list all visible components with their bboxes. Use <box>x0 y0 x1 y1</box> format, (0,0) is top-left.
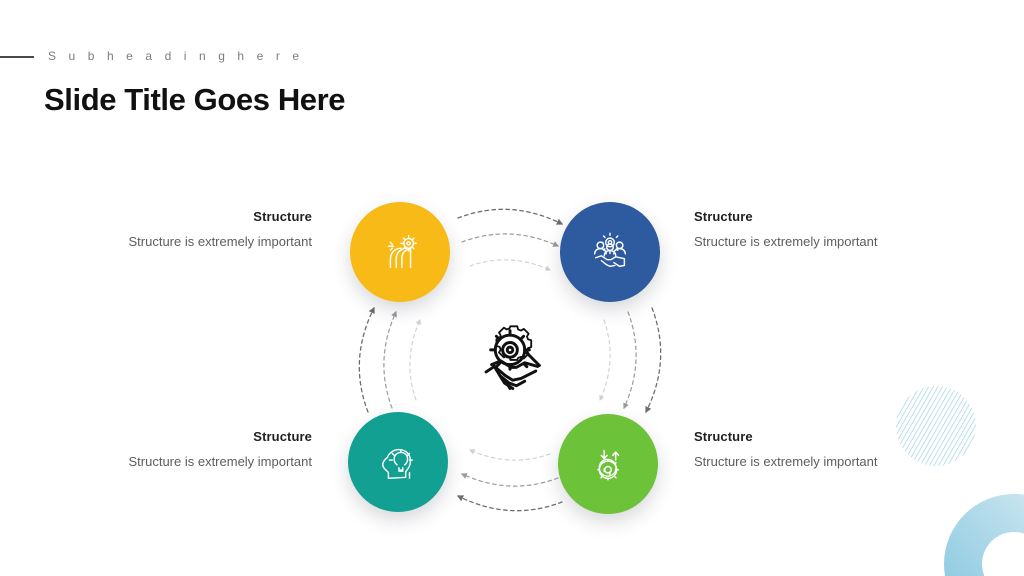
node-text-top-left: Structure Structure is extremely importa… <box>102 209 312 252</box>
ring-shape <box>944 494 1024 576</box>
node-body: Structure is extremely important <box>694 452 904 472</box>
node-body: Structure is extremely important <box>102 232 312 252</box>
node-body: Structure is extremely important <box>102 452 312 472</box>
node-top-left[interactable] <box>350 202 450 302</box>
gear-arrows-icon <box>585 441 631 487</box>
node-bottom-right[interactable] <box>558 414 658 514</box>
node-heading: Structure <box>694 209 904 224</box>
team-handshake-gear-icon <box>587 229 633 275</box>
subheading: S u b h e a d i n g h e r e <box>48 49 304 63</box>
corner-decoration <box>864 386 1024 576</box>
node-heading: Structure <box>102 209 312 224</box>
node-text-bottom-left: Structure Structure is extremely importa… <box>102 429 312 472</box>
heads-gear-icon <box>377 229 423 275</box>
node-body: Structure is extremely important <box>694 232 904 252</box>
decoration-shapes <box>896 386 1024 576</box>
page-title: Slide Title Goes Here <box>44 82 345 118</box>
node-heading: Structure <box>102 429 312 444</box>
node-top-right[interactable] <box>560 202 660 302</box>
node-bottom-left[interactable] <box>348 412 448 512</box>
head-lightbulb-icon <box>375 439 421 485</box>
subheading-rule <box>0 56 34 58</box>
node-text-top-right: Structure Structure is extremely importa… <box>694 209 904 252</box>
hatched-circle <box>896 386 976 466</box>
handshake-gear-icon <box>464 314 556 406</box>
node-heading: Structure <box>694 429 904 444</box>
cycle-diagram <box>330 180 690 540</box>
node-text-bottom-right: Structure Structure is extremely importa… <box>694 429 904 472</box>
center-handshake-gear <box>455 305 565 415</box>
